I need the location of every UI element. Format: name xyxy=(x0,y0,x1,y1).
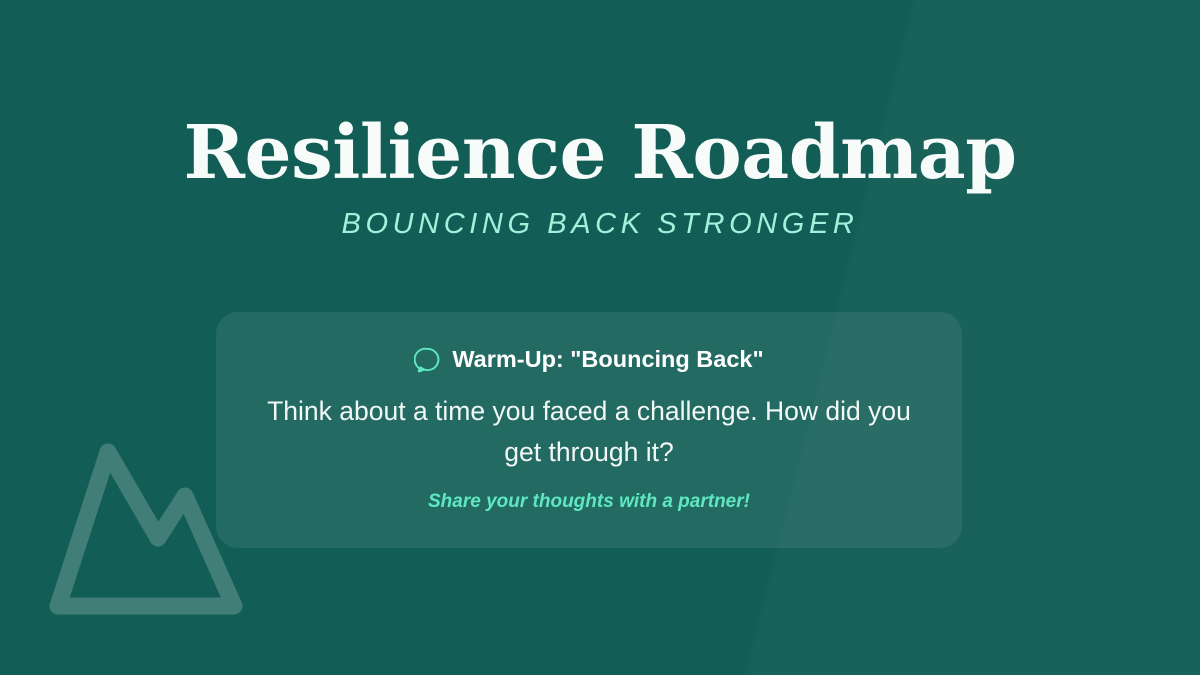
warm-up-card: Warm-Up: "Bouncing Back" Think about a t… xyxy=(216,312,962,548)
slide-canvas: Resilience Roadmap BOUNCING BACK STRONGE… xyxy=(0,0,1200,675)
warm-up-card-heading: Warm-Up: "Bouncing Back" xyxy=(452,346,763,373)
speech-bubble-icon xyxy=(414,346,441,373)
page-title: Resilience Roadmap xyxy=(0,116,1200,190)
warm-up-card-note: Share your thoughts with a partner! xyxy=(260,491,918,513)
title-block: Resilience Roadmap BOUNCING BACK STRONGE… xyxy=(0,116,1200,241)
warm-up-card-header: Warm-Up: "Bouncing Back" xyxy=(260,346,918,373)
warm-up-card-body: Think about a time you faced a challenge… xyxy=(260,391,918,472)
page-subtitle: BOUNCING BACK STRONGER xyxy=(0,208,1200,241)
